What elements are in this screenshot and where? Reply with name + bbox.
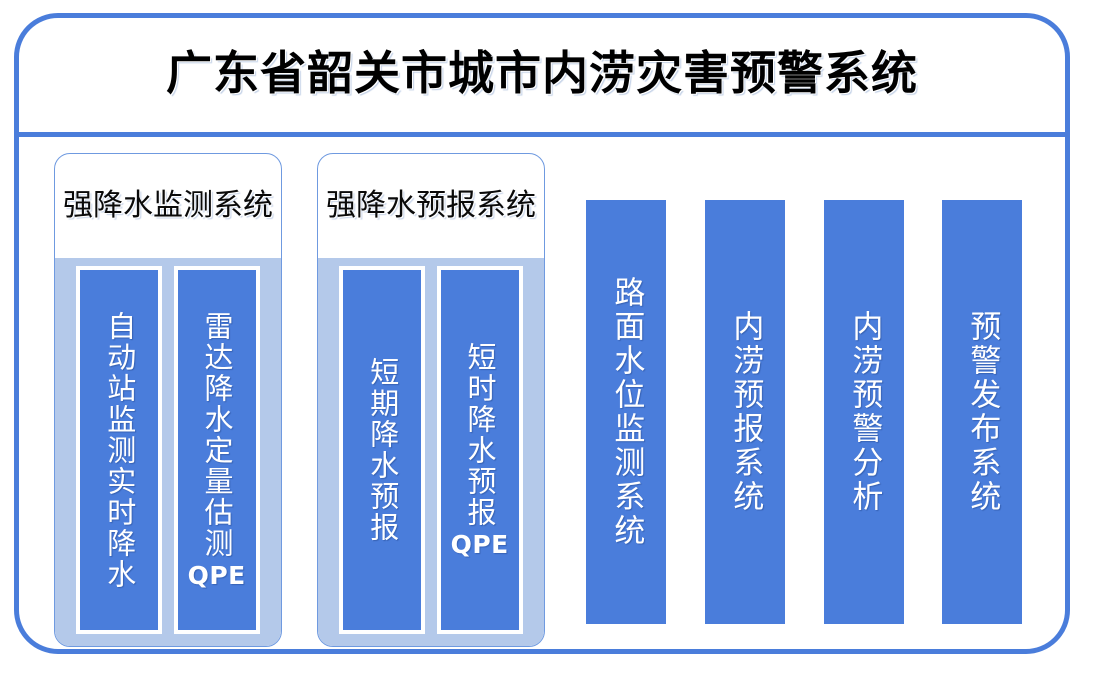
group-title-monitoring-label: 强降水监测系统 [63, 188, 273, 223]
bar-label: 短期降水预报 [367, 357, 398, 543]
group-title-forecast: 强降水预报系统 [318, 154, 544, 258]
title-divider [19, 132, 1065, 137]
group-box-monitoring[interactable]: 强降水监测系统 自动站监测实时降水 雷达降水定量估测 QPE [54, 153, 282, 647]
group-body-monitoring: 自动站监测实时降水 雷达降水定量估测 QPE [55, 258, 281, 647]
group-title-monitoring: 强降水监测系统 [55, 154, 281, 258]
group-body-forecast: 短期降水预报 短时降水预报 QPE [318, 258, 544, 647]
bar-road-water-level-monitoring[interactable]: 路面水位监测系统 [586, 200, 666, 624]
bar-warning-release-system[interactable]: 预警发布系统 [942, 200, 1022, 624]
bar-label: 雷达降水定量估测 [201, 311, 232, 559]
page-title: 广东省韶关市城市内涝灾害预警系统 [166, 50, 918, 96]
bar-label: 内涝预警分析 [848, 310, 881, 514]
bar-label: 短时降水预报 [464, 342, 495, 528]
bar-label: 路面水位监测系统 [610, 276, 643, 548]
bar-nowcast-precip-qpe[interactable]: 短时降水预报 QPE [437, 266, 523, 634]
bar-label-suffix: QPE [451, 530, 509, 559]
group-box-forecast[interactable]: 强降水预报系统 短期降水预报 短时降水预报 QPE [317, 153, 545, 647]
bar-label-suffix: QPE [188, 561, 246, 590]
bar-label: 预警发布系统 [966, 310, 999, 514]
diagram-content: 强降水监测系统 自动站监测实时降水 雷达降水定量估测 QPE 强降水预报系统 短… [19, 140, 1065, 650]
bar-waterlogging-forecast-system[interactable]: 内涝预报系统 [705, 200, 785, 624]
bar-waterlogging-warning-analysis[interactable]: 内涝预警分析 [824, 200, 904, 624]
bar-auto-station-realtime-rainfall[interactable]: 自动站监测实时降水 [76, 266, 162, 634]
flood-warning-system-diagram: 广东省韶关市城市内涝灾害预警系统 强降水监测系统 自动站监测实时降水 雷达降水定… [0, 0, 1094, 675]
bar-short-range-precip-forecast[interactable]: 短期降水预报 [339, 266, 425, 634]
bar-radar-qpe[interactable]: 雷达降水定量估测 QPE [174, 266, 260, 634]
title-band: 广东省韶关市城市内涝灾害预警系统 [14, 13, 1070, 133]
bar-label: 自动站监测实时降水 [104, 311, 135, 590]
group-title-forecast-label: 强降水预报系统 [326, 188, 536, 223]
bar-label: 内涝预报系统 [729, 310, 762, 514]
